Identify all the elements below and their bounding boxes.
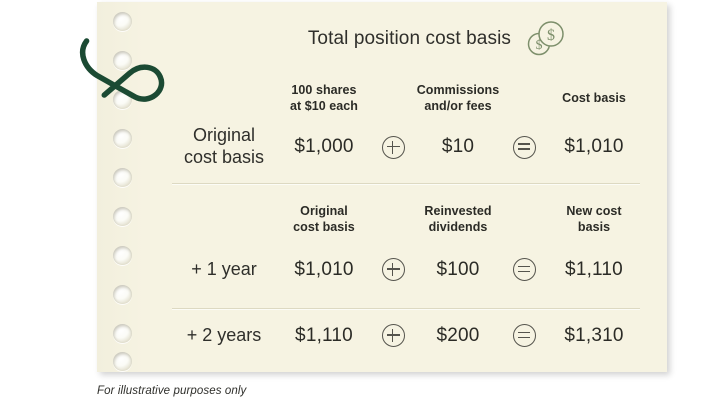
cell-value-2: $100: [414, 242, 502, 297]
operator-equals: [502, 118, 546, 176]
punch-hole: [113, 285, 132, 304]
table-row: + 1 year $1,010 $100 $1,110: [172, 242, 642, 297]
cost-basis-table-section-1: 100 shares at $10 each Commissions and/o…: [172, 80, 642, 176]
operator-plus: [372, 242, 414, 297]
page-title-row: Total position cost basis $ $: [275, 20, 565, 58]
plus-icon: [382, 258, 405, 281]
punch-hole: [113, 90, 132, 109]
punch-hole: [113, 51, 132, 70]
cell-value-1: $1,010: [276, 242, 372, 297]
table-row: Original cost basis $1,000 $10 $1,010: [172, 118, 642, 176]
column-header-blank: [172, 80, 276, 118]
punch-hole: [113, 168, 132, 187]
two-dollar-coins-icon: $ $: [525, 20, 565, 58]
column-header-blank: [172, 198, 276, 242]
cell-value-2: $200: [414, 313, 502, 358]
column-header-blank-op2: [502, 198, 546, 242]
illustrative-caption: For illustrative purposes only: [97, 385, 246, 397]
punch-hole: [113, 352, 132, 371]
punch-hole: [113, 12, 132, 31]
operator-plus: [372, 118, 414, 176]
row-label-plus-2-years: + 2 years: [172, 313, 276, 358]
row-label-original-cost-basis: Original cost basis: [172, 118, 276, 176]
column-header-cost-basis: Cost basis: [546, 80, 642, 118]
plus-icon: [382, 324, 405, 347]
row-label-plus-1-year: + 1 year: [172, 242, 276, 297]
cost-basis-table-section-3: + 2 years $1,110 $200 $1,310: [172, 313, 642, 358]
table-row: + 2 years $1,110 $200 $1,310: [172, 313, 642, 358]
column-header-blank-op2: [502, 80, 546, 118]
operator-equals: [502, 313, 546, 358]
equals-icon: [513, 324, 536, 347]
cell-value-3: $1,110: [546, 242, 642, 297]
cell-value-1: $1,110: [276, 313, 372, 358]
svg-text:$: $: [547, 27, 555, 44]
column-header-blank-op: [372, 80, 414, 118]
cell-value-3: $1,010: [546, 118, 642, 176]
column-header-commissions: Commissions and/or fees: [414, 80, 502, 118]
punch-hole: [113, 207, 132, 226]
punch-hole: [113, 129, 132, 148]
equals-icon: [513, 258, 536, 281]
punch-hole: [113, 246, 132, 265]
column-header-reinvested-dividends: Reinvested dividends: [414, 198, 502, 242]
column-header-shares: 100 shares at $10 each: [276, 80, 372, 118]
cell-value-1: $1,000: [276, 118, 372, 176]
table-header-row: 100 shares at $10 each Commissions and/o…: [172, 80, 642, 118]
column-header-blank-op: [372, 198, 414, 242]
column-header-new-cost-basis: New cost basis: [546, 198, 642, 242]
page-title: Total position cost basis: [308, 28, 511, 50]
cost-basis-table-section-2: Original cost basis Reinvested dividends…: [172, 198, 642, 297]
equals-icon: [513, 136, 536, 159]
plus-icon: [382, 136, 405, 159]
table-header-row: Original cost basis Reinvested dividends…: [172, 198, 642, 242]
column-header-original-cost-basis: Original cost basis: [276, 198, 372, 242]
operator-equals: [502, 242, 546, 297]
operator-plus: [372, 313, 414, 358]
section-divider-1: [172, 183, 640, 184]
cell-value-3: $1,310: [546, 313, 642, 358]
section-divider-2: [172, 308, 640, 309]
punch-hole: [113, 324, 132, 343]
cell-value-2: $10: [414, 118, 502, 176]
